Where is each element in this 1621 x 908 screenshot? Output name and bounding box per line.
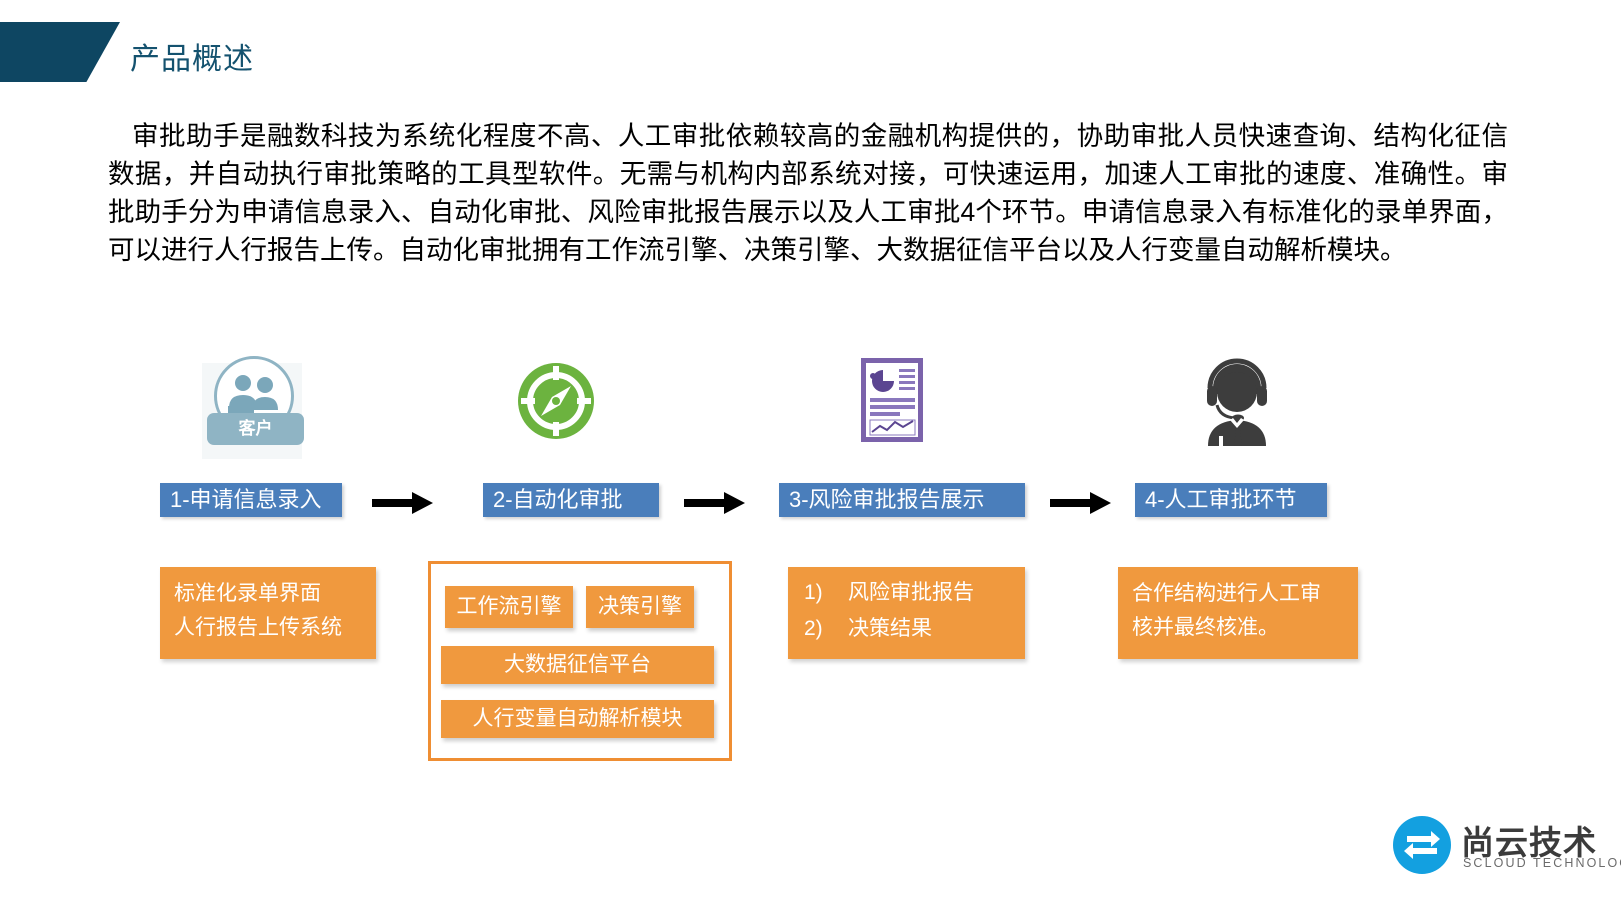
step-3-item-1-number: 1): [804, 575, 848, 611]
step-3-item-1: 1) 风险审批报告: [804, 575, 1025, 611]
step-2-chip-decision-engine[interactable]: 决策引擎: [586, 586, 694, 628]
compass-icon: [517, 362, 595, 440]
step-2-chip-pboc-parser[interactable]: 人行变量自动解析模块: [441, 700, 714, 738]
header-parallelogram: [0, 22, 120, 82]
step-1-detail-box: 标准化录单界面 人行报告上传系统: [160, 567, 376, 659]
customers-icon: [226, 374, 282, 414]
step-3-item-2-number: 2): [804, 611, 848, 647]
company-logo: 尚云技术 SCLOUD TECHNOLOGY: [1393, 812, 1603, 880]
step-4-detail-line-2: 核并最终核准。: [1132, 611, 1344, 645]
step-3-label[interactable]: 3-风险审批报告展示: [779, 483, 1025, 517]
step-3-detail-box: 1) 风险审批报告 2) 决策结果: [788, 567, 1025, 659]
step-2-chip-bigdata-platform[interactable]: 大数据征信平台: [441, 646, 714, 684]
step-1-detail-line-1: 标准化录单界面: [174, 577, 362, 611]
step-1-icon-slot: 客户: [202, 350, 362, 465]
step-3-item-2: 2) 决策结果: [804, 611, 1025, 647]
step-2-label[interactable]: 2-自动化审批: [483, 483, 659, 517]
step-3-item-1-text: 风险审批报告: [848, 575, 974, 611]
customers-icon-caption: 客户: [207, 413, 304, 445]
step-3-icon-slot: [843, 350, 1003, 465]
flow-diagram: 客户 1-申请信息录入 标准化录单界面 人行报告上传系统 2-自动化审批: [0, 350, 1621, 790]
step-2-icon-slot: [499, 350, 659, 465]
step-2-detail-frame: 工作流引擎 决策引擎 大数据征信平台 人行变量自动解析模块: [428, 561, 732, 761]
arrow-right-icon-3: [1050, 490, 1112, 516]
step-2-chip-workflow-engine[interactable]: 工作流引擎: [445, 586, 573, 628]
step-4-detail-box: 合作结构进行人工审 核并最终核准。: [1118, 567, 1358, 659]
step-4-label[interactable]: 4-人工审批环节: [1135, 483, 1327, 517]
support-agent-icon: [1200, 358, 1274, 446]
arrow-right-icon-2: [684, 490, 746, 516]
arrow-right-icon-1: [372, 490, 434, 516]
scloud-exchange-icon: [1393, 816, 1451, 874]
step-1-detail-line-2: 人行报告上传系统: [174, 611, 362, 645]
page-title: 产品概述: [130, 34, 254, 78]
step-4-icon-slot: [1188, 350, 1348, 465]
step-3-item-2-text: 决策结果: [848, 611, 932, 647]
step-1-label[interactable]: 1-申请信息录入: [160, 483, 342, 517]
header-decoration-band: [0, 22, 120, 82]
report-icon: [861, 358, 923, 442]
intro-paragraph: 审批助手是融数科技为系统化程度不高、人工审批依赖较高的金融机构提供的，协助审批人…: [108, 117, 1508, 269]
logo-name-en: SCLOUD TECHNOLOGY: [1463, 856, 1621, 870]
step-4-detail-line-1: 合作结构进行人工审: [1132, 577, 1344, 611]
